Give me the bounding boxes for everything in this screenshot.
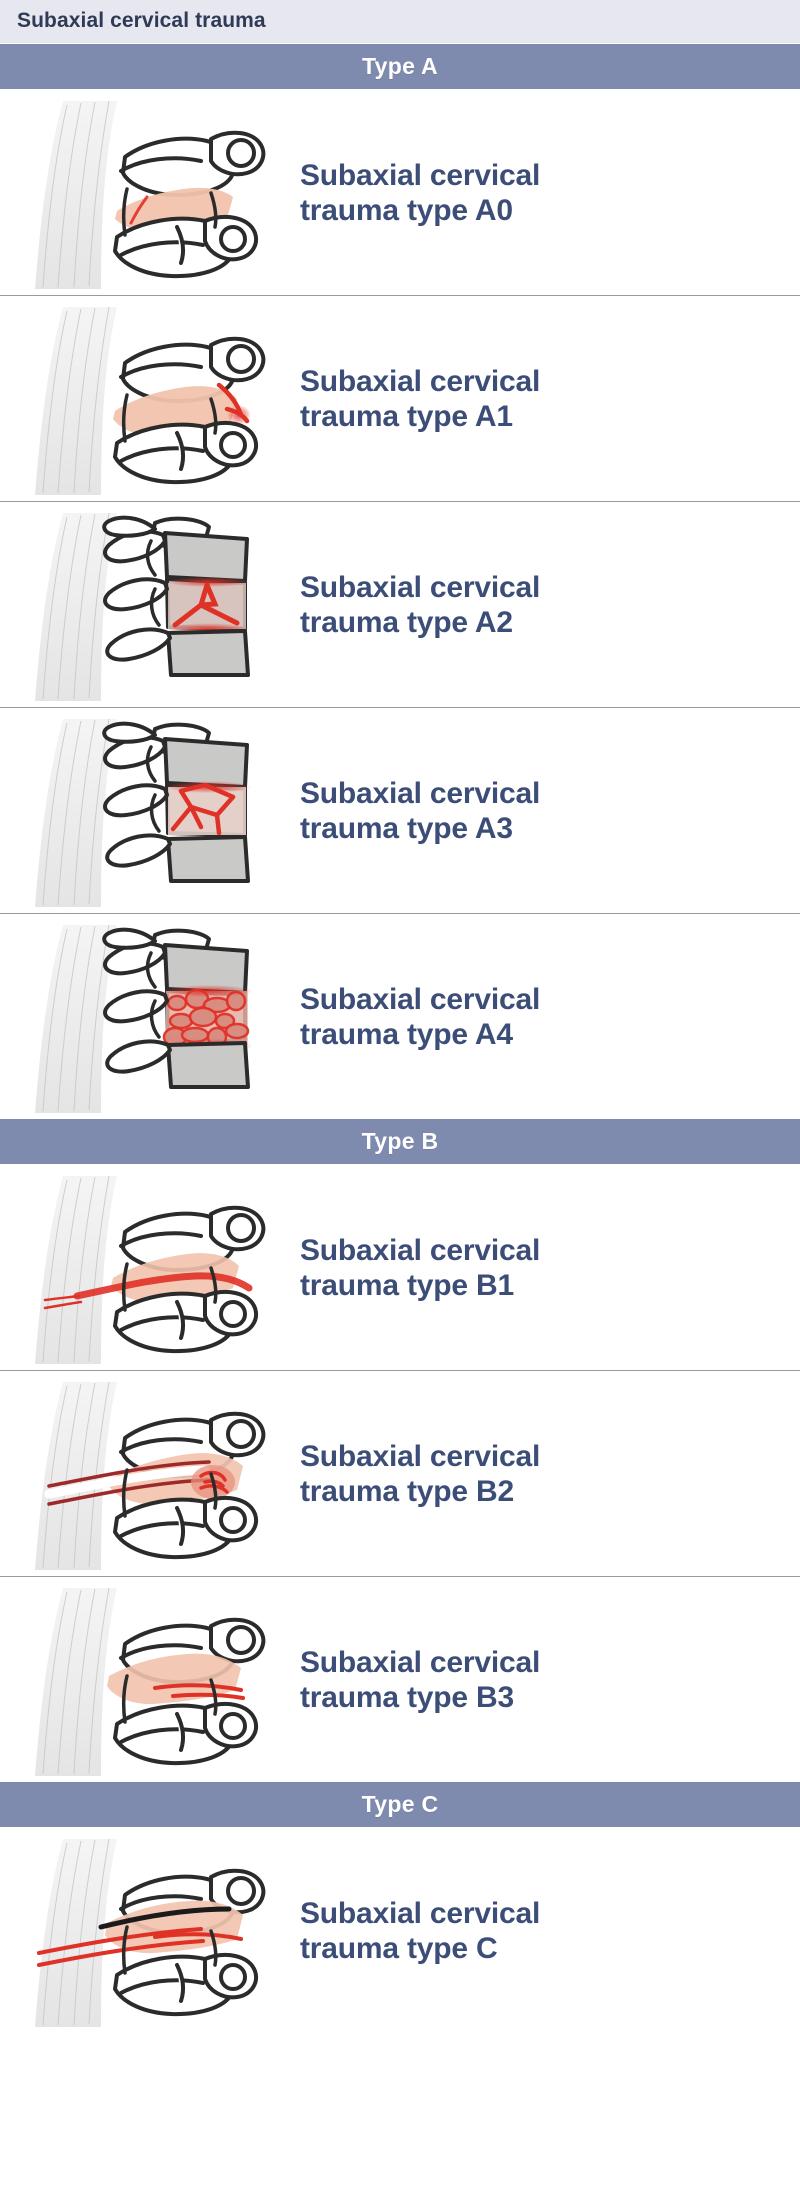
classification-row[interactable]: Subaxial cervicaltrauma type A0 (0, 90, 800, 296)
figure-subaxial-cervical-trauma-type-b3 (0, 1577, 300, 1782)
group-band-type-b: Type B (0, 1119, 800, 1165)
classification-groups: Type A (0, 44, 800, 2033)
label-line-1: Subaxial cervical (300, 159, 540, 192)
figure-subaxial-cervical-trauma-type-a3 (0, 708, 300, 913)
label-line-1: Subaxial cervical (300, 1440, 540, 1473)
classification-row-label: Subaxial cervicaltrauma type A4 (300, 982, 800, 1052)
group-band-label: Type B (362, 1128, 439, 1155)
figure-subaxial-cervical-trauma-type-a2 (0, 502, 300, 707)
classification-row[interactable]: Subaxial cervicaltrauma type A3 (0, 708, 800, 914)
label-line-1: Subaxial cervical (300, 777, 540, 810)
label-line-2: trauma type A3 (300, 811, 780, 846)
label-line-2: trauma type B1 (300, 1268, 780, 1303)
classification-row-label: Subaxial cervicaltrauma type B1 (300, 1233, 800, 1303)
page-header: Subaxial cervical trauma (0, 0, 800, 44)
classification-row-label: Subaxial cervicaltrauma type A3 (300, 776, 800, 846)
label-line-1: Subaxial cervical (300, 571, 540, 604)
classification-row[interactable]: Subaxial cervicaltrauma type C (0, 1828, 800, 2033)
classification-row-label: Subaxial cervicaltrauma type A0 (300, 158, 800, 228)
classification-row[interactable]: Subaxial cervicaltrauma type B3 (0, 1577, 800, 1782)
figure-subaxial-cervical-trauma-type-c (0, 1828, 300, 2033)
label-line-2: trauma type A0 (300, 193, 780, 228)
classification-row[interactable]: Subaxial cervicaltrauma type A1 (0, 296, 800, 502)
label-line-1: Subaxial cervical (300, 1234, 540, 1267)
figure-subaxial-cervical-trauma-type-b2 (0, 1371, 300, 1576)
label-line-2: trauma type B3 (300, 1680, 780, 1715)
classification-row[interactable]: Subaxial cervicaltrauma type A2 (0, 502, 800, 708)
label-line-2: trauma type C (300, 1931, 780, 1966)
label-line-2: trauma type B2 (300, 1474, 780, 1509)
figure-subaxial-cervical-trauma-type-a1 (0, 296, 300, 501)
label-line-1: Subaxial cervical (300, 365, 540, 398)
page-title: Subaxial cervical trauma (17, 9, 800, 33)
group-band-label: Type A (362, 53, 438, 80)
label-line-2: trauma type A2 (300, 605, 780, 640)
classification-row-label: Subaxial cervicaltrauma type A2 (300, 570, 800, 640)
subaxial-cervical-trauma-classification-page: Subaxial cervical trauma Type A (0, 0, 800, 2033)
group-band-type-c: Type C (0, 1782, 800, 1828)
classification-row-label: Subaxial cervicaltrauma type B3 (300, 1645, 800, 1715)
classification-row[interactable]: Subaxial cervicaltrauma type B1 (0, 1165, 800, 1371)
label-line-1: Subaxial cervical (300, 983, 540, 1016)
classification-row-label: Subaxial cervicaltrauma type A1 (300, 364, 800, 434)
group-band-label: Type C (362, 1791, 439, 1818)
figure-subaxial-cervical-trauma-type-b1 (0, 1165, 300, 1370)
classification-row[interactable]: Subaxial cervicaltrauma type A4 (0, 914, 800, 1119)
classification-row-label: Subaxial cervicaltrauma type C (300, 1896, 800, 1966)
group-band-type-a: Type A (0, 44, 800, 90)
figure-subaxial-cervical-trauma-type-a0 (0, 90, 300, 295)
figure-subaxial-cervical-trauma-type-a4 (0, 914, 300, 1119)
label-line-2: trauma type A4 (300, 1017, 780, 1052)
classification-row[interactable]: Subaxial cervicaltrauma type B2 (0, 1371, 800, 1577)
classification-row-label: Subaxial cervicaltrauma type B2 (300, 1439, 800, 1509)
label-line-1: Subaxial cervical (300, 1897, 540, 1930)
label-line-1: Subaxial cervical (300, 1646, 540, 1679)
label-line-2: trauma type A1 (300, 399, 780, 434)
